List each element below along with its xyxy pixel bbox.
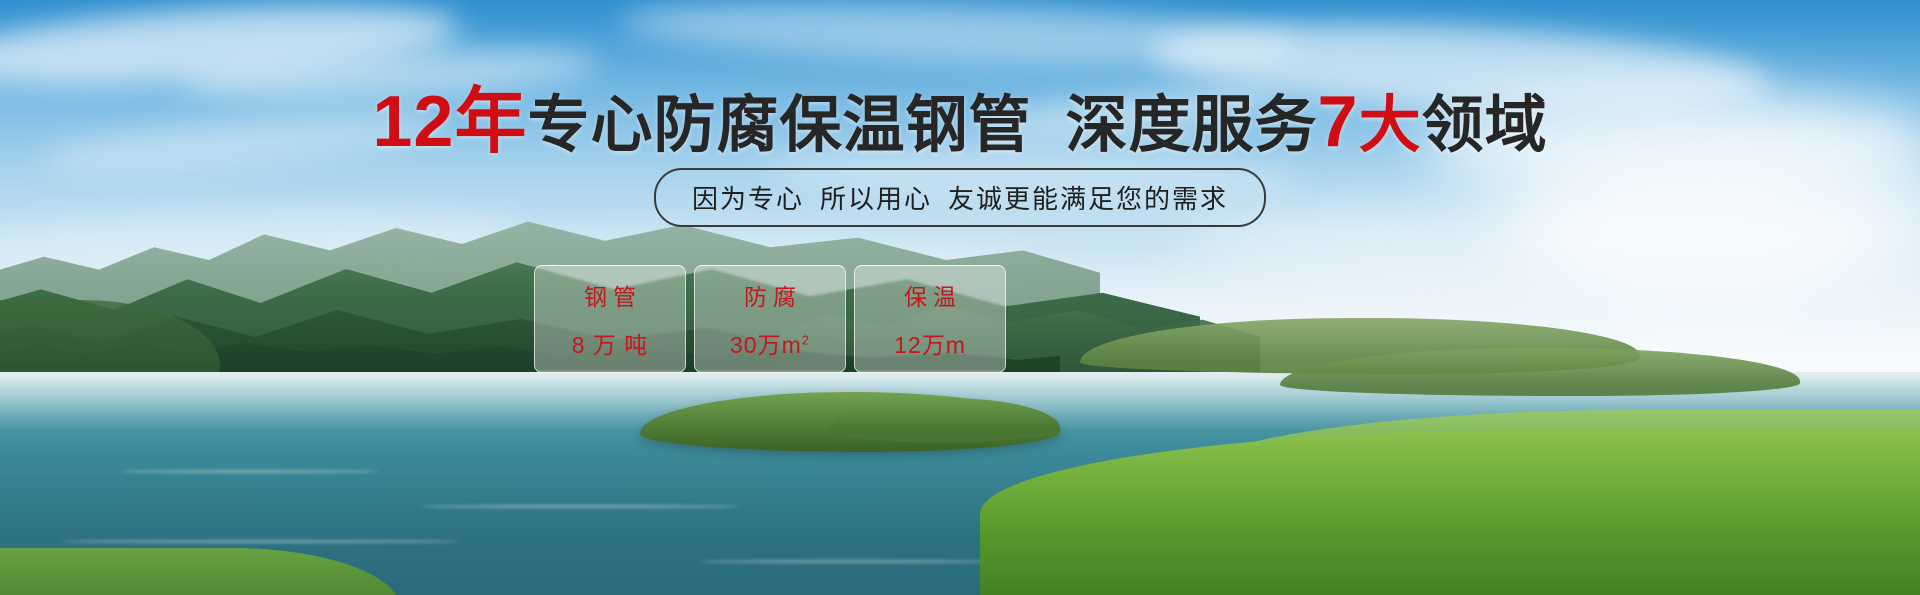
stat-card-steel-pipe[interactable]: 钢管 8 万 吨: [534, 265, 686, 373]
headline-main-text: 专心防腐保温钢管: [528, 91, 1032, 160]
headline-fields-number: 7: [1318, 82, 1359, 162]
stat-card-value-superscript: 2: [802, 332, 810, 347]
water-ripple: [700, 560, 1000, 563]
stat-card-insulation[interactable]: 保温 12万m: [854, 265, 1006, 373]
stat-card-value: 30万m2: [730, 326, 810, 360]
subtitle-part-2: 所以用心: [820, 184, 932, 214]
subtitle-pill: 因为专心所以用心友诚更能满足您的需求: [654, 168, 1266, 227]
subtitle-part-3: 友诚更能满足您的需求: [948, 184, 1228, 214]
headline-years-number: 12: [372, 82, 454, 162]
stat-card-value-main: 12万m: [894, 332, 966, 358]
headline-service-text: 深度服务: [1066, 91, 1318, 160]
headline-fields-text: 领域: [1422, 91, 1548, 160]
stat-card-group: 钢管 8 万 吨 防腐 30万m2 保温 12万m: [534, 265, 1006, 373]
subtitle-part-1: 因为专心: [692, 184, 804, 214]
headline-fields-unit: 大: [1359, 91, 1422, 160]
stat-card-title: 钢管: [578, 278, 642, 312]
stat-card-title: 保温: [898, 278, 962, 312]
water-ripple: [420, 505, 740, 508]
stat-card-value: 8 万 吨: [572, 326, 649, 360]
stat-card-value-main: 8 万 吨: [572, 332, 649, 358]
subtitle-pill-wrapper: 因为专心所以用心友诚更能满足您的需求: [0, 168, 1920, 227]
stat-card-anticorrosion[interactable]: 防腐 30万m2: [694, 265, 846, 373]
headline-years-unit: 年: [454, 82, 527, 162]
stat-card-title: 防腐: [738, 278, 802, 312]
water-ripple: [120, 470, 380, 473]
banner-headline: 12年专心防腐保温钢管深度服务7大领域: [0, 86, 1920, 162]
stat-card-value-main: 30万m: [730, 332, 802, 358]
promo-banner: 12年专心防腐保温钢管深度服务7大领域 因为专心所以用心友诚更能满足您的需求 钢…: [0, 0, 1920, 595]
stat-card-value: 12万m: [894, 326, 966, 360]
water-ripple: [60, 540, 460, 543]
